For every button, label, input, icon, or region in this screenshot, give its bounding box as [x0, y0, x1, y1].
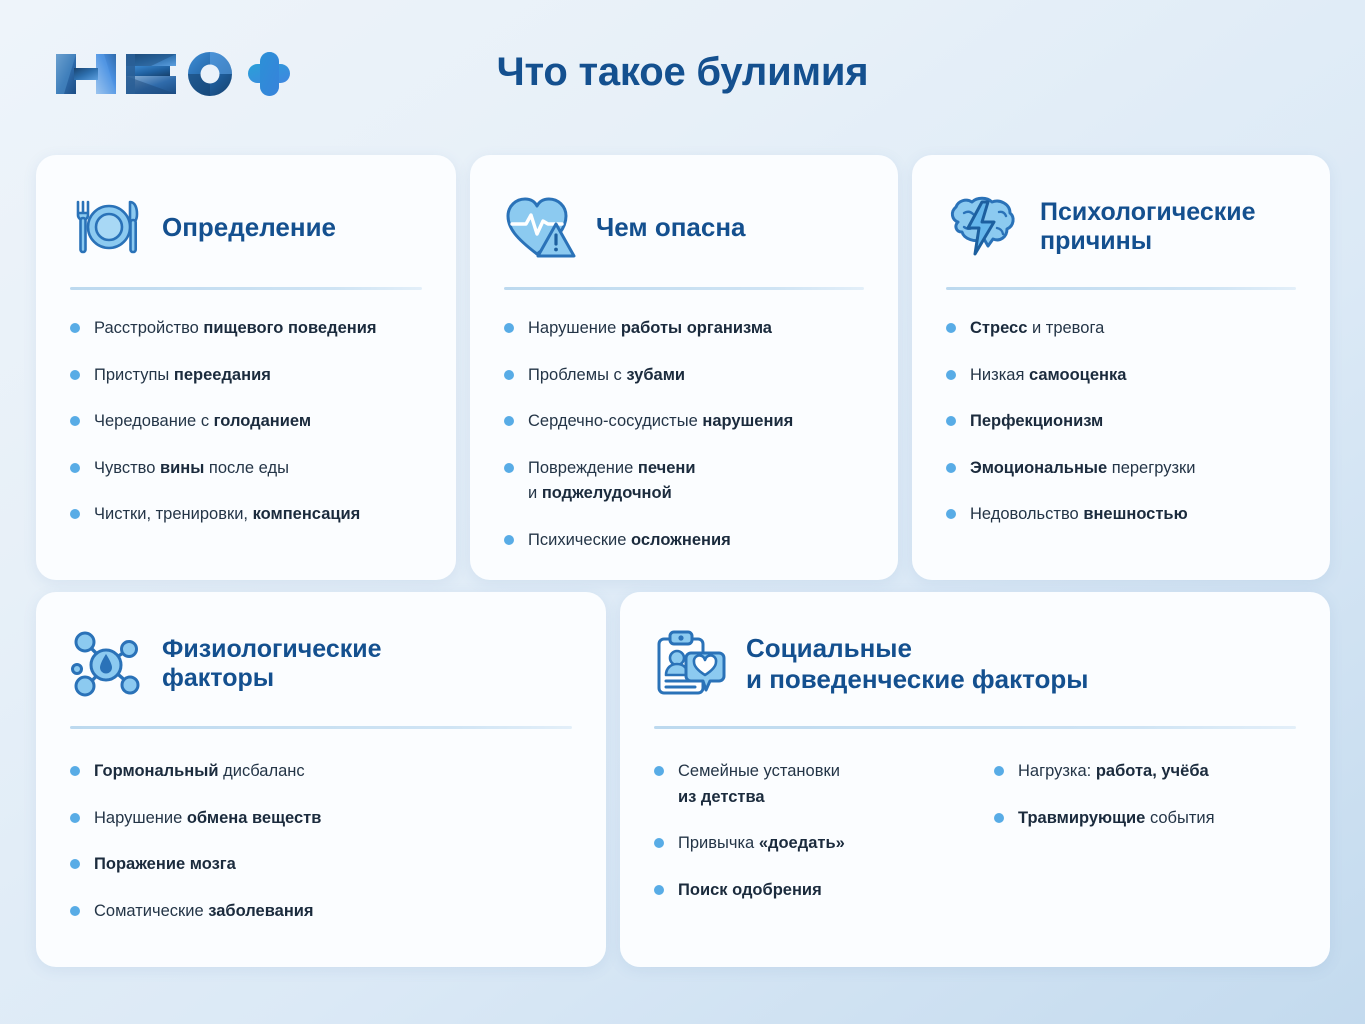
- list-item-text: Привычка «доедать»: [678, 831, 845, 857]
- list-item: Приступы переедания: [70, 363, 426, 389]
- bullet-dot: [654, 885, 664, 895]
- bullet-dot: [504, 323, 514, 333]
- bullet-dot: [70, 416, 80, 426]
- card-psychological-causes: Психологическиепричины Стресс и тревогаН…: [912, 155, 1330, 580]
- header: Что такое булимия: [0, 0, 1365, 140]
- list-item: Травмирующие события: [994, 806, 1300, 832]
- card-header: Физиологическиефакторы: [36, 592, 606, 700]
- bullet-dot: [504, 463, 514, 473]
- list-item: Недовольство внешностью: [946, 502, 1300, 528]
- list-item-text: Семейные установкииз детства: [678, 759, 840, 810]
- bullet-dot: [70, 813, 80, 823]
- clipboard-heart-icon: [654, 628, 726, 700]
- bullet-dot: [994, 813, 1004, 823]
- list-item-text: Нарушение обмена веществ: [94, 806, 321, 832]
- card-title: Социальныеи поведенческие факторы: [746, 633, 1089, 694]
- plate-fork-knife-icon: [70, 191, 142, 263]
- list-item-text: Эмоциональные перегрузки: [970, 456, 1196, 482]
- list-item: Нагрузка: работа, учёба: [994, 759, 1300, 785]
- list-item: Нарушение работы организма: [504, 316, 868, 342]
- list-item-text: Низкая самооценка: [970, 363, 1126, 389]
- card-header: Психологическиепричины: [912, 155, 1330, 263]
- list-item: Чувство вины после еды: [70, 456, 426, 482]
- list-item: Семейные установкииз детства: [654, 759, 960, 810]
- bullet-dot: [70, 766, 80, 776]
- list-item-text: Гормональный дисбаланс: [94, 759, 305, 785]
- bullet-dot: [504, 416, 514, 426]
- list-item-text: Нарушение работы организма: [528, 316, 772, 342]
- bullet-column-left: Семейные установкииз детстваПривычка «до…: [654, 759, 960, 924]
- list-item-text: Нагрузка: работа, учёба: [1018, 759, 1209, 785]
- molecule-hormone-icon: [70, 628, 142, 700]
- list-item-text: Недовольство внешностью: [970, 502, 1188, 528]
- bullet-list: Стресс и тревогаНизкая самооценкаПерфекц…: [912, 290, 1330, 528]
- list-item-text: Чувство вины после еды: [94, 456, 289, 482]
- list-item-text: Сердечно-сосудистые нарушения: [528, 409, 793, 435]
- card-title: Чем опасна: [596, 212, 746, 243]
- bullet-dot: [946, 416, 956, 426]
- bullet-dot: [946, 463, 956, 473]
- card-header: Чем опасна: [470, 155, 898, 263]
- list-item: Эмоциональные перегрузки: [946, 456, 1300, 482]
- list-item-text: Стресс и тревога: [970, 316, 1104, 342]
- list-item-text: Поиск одобрения: [678, 878, 822, 904]
- card-danger: Чем опасна Нарушение работы организмаПро…: [470, 155, 898, 580]
- card-physiological-factors: Физиологическиефакторы Гормональный дисб…: [36, 592, 606, 967]
- card-header: Определение: [36, 155, 456, 263]
- card-title: Физиологическиефакторы: [162, 635, 382, 694]
- list-item: Чередование с голоданием: [70, 409, 426, 435]
- list-item: Привычка «доедать»: [654, 831, 960, 857]
- list-item: Стресс и тревога: [946, 316, 1300, 342]
- card-social-behavioral-factors: Социальныеи поведенческие факторы Семейн…: [620, 592, 1330, 967]
- bullet-dot: [946, 509, 956, 519]
- list-item: Сердечно-сосудистые нарушения: [504, 409, 868, 435]
- list-item: Низкая самооценка: [946, 363, 1300, 389]
- bullet-dot: [70, 859, 80, 869]
- list-item-text: Поражение мозга: [94, 852, 236, 878]
- bullet-dot: [504, 535, 514, 545]
- bullet-dot: [654, 838, 664, 848]
- list-item: Поиск одобрения: [654, 878, 960, 904]
- bullet-dot: [946, 370, 956, 380]
- bullet-dot: [946, 323, 956, 333]
- list-item-text: Приступы переедания: [94, 363, 271, 389]
- bullet-list: Расстройство пищевого поведенияПриступы …: [36, 290, 456, 528]
- list-item-text: Травмирующие события: [1018, 806, 1215, 832]
- heart-pulse-warning-icon: [504, 191, 576, 263]
- bullet-dot: [654, 766, 664, 776]
- bullet-dot: [70, 509, 80, 519]
- list-item: Повреждение печении поджелудочной: [504, 456, 868, 507]
- list-item-text: Психические осложнения: [528, 528, 731, 554]
- bullet-list: Нарушение работы организмаПроблемы с зуб…: [470, 290, 898, 553]
- card-definition: Определение Расстройство пищевого поведе…: [36, 155, 456, 580]
- list-item-text: Перфекционизм: [970, 409, 1103, 435]
- list-item-text: Чередование с голоданием: [94, 409, 311, 435]
- brain-lightning-icon: [944, 191, 1020, 263]
- list-item: Соматические заболевания: [70, 899, 576, 925]
- bullet-list: Гормональный дисбалансНарушение обмена в…: [36, 729, 606, 924]
- list-item: Гормональный дисбаланс: [70, 759, 576, 785]
- list-item: Психические осложнения: [504, 528, 868, 554]
- list-item: Нарушение обмена веществ: [70, 806, 576, 832]
- bullet-dot: [70, 370, 80, 380]
- list-item: Чистки, тренировки, компенсация: [70, 502, 426, 528]
- list-item: Перфекционизм: [946, 409, 1300, 435]
- list-item: Поражение мозга: [70, 852, 576, 878]
- bullet-column-right: Нагрузка: работа, учёбаТравмирующие собы…: [994, 759, 1300, 924]
- card-title: Определение: [162, 212, 336, 243]
- card-header: Социальныеи поведенческие факторы: [620, 592, 1330, 700]
- page-title: Что такое булимия: [0, 50, 1365, 95]
- list-item-text: Расстройство пищевого поведения: [94, 316, 377, 342]
- list-item-text: Проблемы с зубами: [528, 363, 685, 389]
- bullet-dot: [70, 323, 80, 333]
- bullet-dot: [70, 463, 80, 473]
- card-title: Психологическиепричины: [1040, 198, 1256, 257]
- list-item: Проблемы с зубами: [504, 363, 868, 389]
- list-item-text: Соматические заболевания: [94, 899, 314, 925]
- bullet-dot: [70, 906, 80, 916]
- infographic-page: Что такое булимия Определение Рас: [0, 0, 1365, 1024]
- list-item: Расстройство пищевого поведения: [70, 316, 426, 342]
- bullet-dot: [504, 370, 514, 380]
- list-item-text: Повреждение печении поджелудочной: [528, 456, 696, 507]
- list-item-text: Чистки, тренировки, компенсация: [94, 502, 360, 528]
- bullet-dot: [994, 766, 1004, 776]
- bullet-columns: Семейные установкииз детстваПривычка «до…: [620, 729, 1330, 924]
